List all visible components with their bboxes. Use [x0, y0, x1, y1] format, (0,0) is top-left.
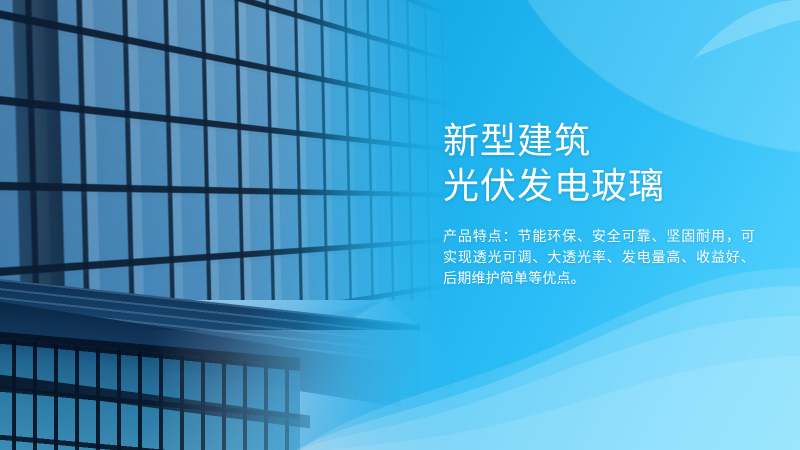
headline-line-1: 新型建筑: [443, 118, 755, 163]
copy-block: 新型建筑 光伏发电玻璃 产品特点：节能环保、安全可靠、坚固耐用，可实现透光可调、…: [443, 118, 755, 289]
headline-line-2: 光伏发电玻璃: [443, 163, 755, 208]
wave-path-top-corner: [694, 0, 800, 58]
promo-banner: 新型建筑 光伏发电玻璃 产品特点：节能环保、安全可靠、坚固耐用，可实现透光可调、…: [0, 0, 800, 450]
product-description: 产品特点：节能环保、安全可靠、坚固耐用，可实现透光可调、大透光率、发电量高、收益…: [443, 226, 755, 289]
